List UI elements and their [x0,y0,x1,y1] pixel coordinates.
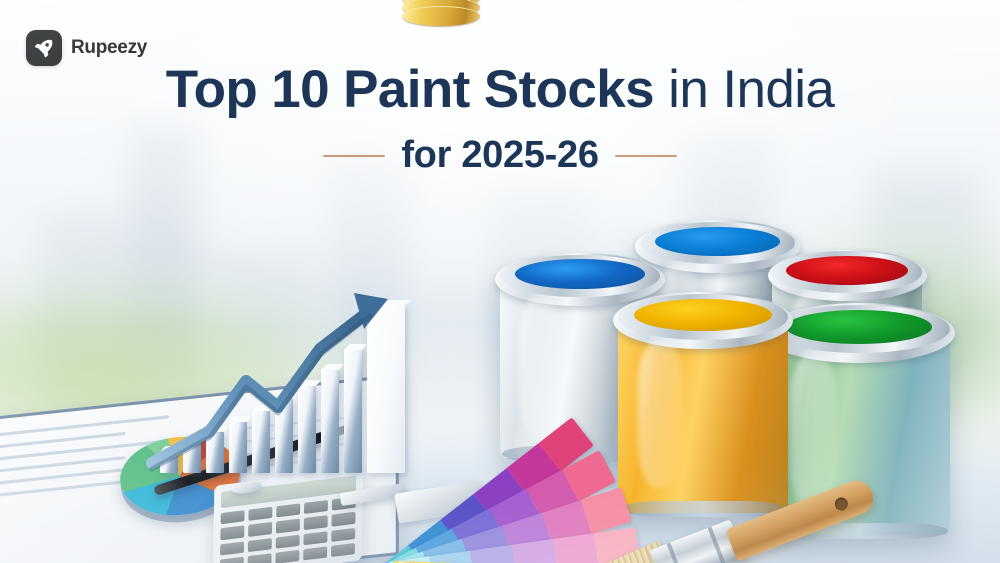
paint-stocks-banner: Rupeezy Top 10 Paint Stocks in India for… [0,0,1000,563]
page-title: Top 10 Paint Stocks in India [0,62,1000,118]
rupeezy-rocket-icon [26,30,62,66]
subtitle-row: for 2025-26 [0,134,1000,177]
title-bold-part: Top 10 Paint Stocks [166,60,654,119]
calculator-keys [220,497,356,563]
brand-name: Rupeezy [71,37,147,59]
rising-arrow-icon [150,285,420,475]
rule-right [615,155,677,157]
page-subtitle: for 2025-26 [401,134,598,177]
title-light-part: in India [654,60,834,119]
rule-left [323,155,385,157]
brand-logo[interactable]: Rupeezy [26,30,147,66]
brush-handle-hole [833,496,850,513]
headline-block: Top 10 Paint Stocks in India for 2025-26 [0,62,1000,177]
